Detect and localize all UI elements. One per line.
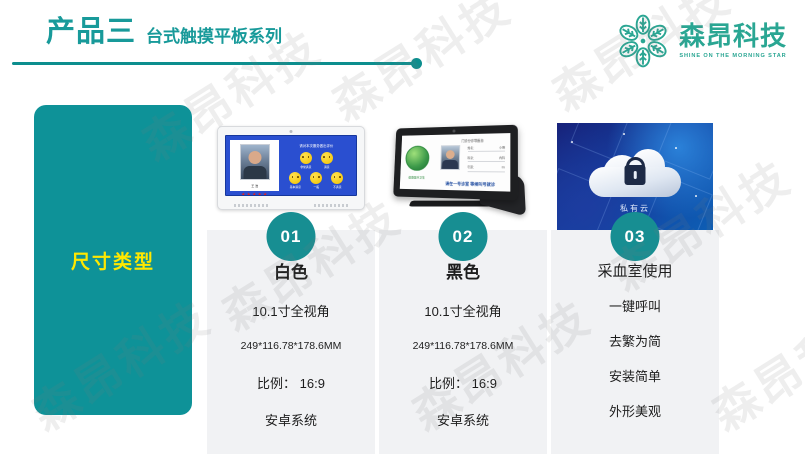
emoji-rating-group: 非常满意 满意 基本满意 一般 不满意	[284, 152, 349, 192]
field-label: 号源：	[467, 165, 476, 169]
header-divider-dot	[411, 58, 422, 69]
column-2-line-4: 安卓系统	[379, 414, 547, 427]
product-column-2: 健康医疗卫生 门诊分诊导医台 姓名： 小明 科室： 内科	[379, 112, 547, 222]
column-2-text: 黑色 10.1寸全视角 249*116.78*178.6MM 比例： 16:9 …	[379, 264, 547, 427]
speaker-vent-left	[234, 204, 268, 207]
health-org-logo-icon	[405, 146, 430, 171]
column-1-heading: 白色	[207, 264, 375, 281]
column-2-line-2: 249*116.78*178.6MM	[379, 341, 547, 352]
logo-tagline: SHINE ON THE MORNING STAR	[679, 53, 786, 59]
screen-profile-card: 王 浩 ★★★★★	[230, 140, 279, 191]
speaker-vent-right	[314, 204, 348, 207]
tablet-camera-dot	[290, 130, 293, 133]
column-3-badge: 03	[611, 212, 660, 261]
emoji-row-top: 非常满意 满意	[284, 152, 349, 169]
emoji-option[interactable]: 不满意	[331, 172, 343, 189]
smiley-icon	[310, 172, 322, 184]
column-2-badge: 02	[439, 212, 488, 261]
column-3-line-1: 一键呼叫	[551, 300, 719, 313]
column-1-media: 王 浩 ★★★★★ 请对本次服务做出评价 非常满意 满意 基本满意	[207, 112, 375, 222]
brand-logo: 森昂科技 SHINE ON THE MORNING STAR	[614, 12, 787, 70]
logo-name: 森昂科技	[679, 23, 787, 50]
size-type-panel: 尺寸类型	[34, 105, 192, 415]
lock-icon	[625, 165, 646, 185]
title-main: 产品三	[46, 18, 136, 47]
screen-title: 门诊分诊导医台	[441, 137, 507, 143]
emoji-label: 不满意	[331, 185, 343, 189]
title-subtitle: 台式触摸平板系列	[146, 28, 282, 47]
emoji-row-bottom: 基本满意 一般 不满意	[284, 172, 349, 189]
field-label: 科室：	[467, 156, 476, 160]
emoji-option[interactable]: 一般	[310, 172, 322, 189]
black-tablet-device: 健康医疗卫生 门诊分诊导医台 姓名： 小明 科室： 内科	[384, 120, 542, 220]
leaf-flower-icon	[614, 12, 672, 70]
field-value: 小明	[499, 145, 505, 149]
column-1-line-2: 249*116.78*178.6MM	[207, 341, 375, 352]
smiley-icon	[331, 172, 343, 184]
field-value: 01	[502, 166, 505, 170]
column-2-heading: 黑色	[379, 264, 547, 281]
size-type-label: 尺寸类型	[71, 247, 155, 274]
smiley-icon	[321, 152, 333, 164]
screen-rating-area: 请对本次服务做出评价 非常满意 满意 基本满意 一般 不满意	[281, 140, 352, 191]
column-2-line-1: 10.1寸全视角	[379, 305, 547, 318]
column-1-badge: 01	[267, 212, 316, 261]
emoji-option[interactable]: 基本满意	[289, 172, 301, 189]
column-3-media: 私有云	[551, 112, 719, 222]
screen-field-row: 号源： 01	[467, 165, 505, 172]
logo-text: 森昂科技 SHINE ON THE MORNING STAR	[679, 23, 787, 58]
emoji-label: 一般	[310, 185, 322, 189]
emoji-option[interactable]: 非常满意	[300, 152, 312, 169]
screen-rating-question: 请对本次服务做出评价	[281, 143, 352, 148]
header-divider-line	[12, 62, 416, 65]
tablet-speaker-vents	[218, 204, 364, 207]
screen-queue-message: 请在一号诊室 等候叫号就诊	[437, 180, 504, 187]
screen-field-row: 姓名： 小明	[468, 145, 506, 152]
column-2-media: 健康医疗卫生 门诊分诊导医台 姓名： 小明 科室： 内科	[379, 112, 547, 222]
field-value: 内科	[499, 155, 505, 159]
screen-field-row: 科室： 内科	[467, 155, 505, 161]
field-label: 姓名：	[468, 146, 476, 150]
column-3-line-3: 安装简单	[551, 370, 719, 383]
white-tablet-screen: 王 浩 ★★★★★ 请对本次服务做出评价 非常满意 满意 基本满意	[225, 135, 357, 196]
product-column-3: 私有云 03 采血室使用 一键呼叫 去繁为简 安装简单 外形美观	[551, 112, 719, 222]
screen-org-name: 健康医疗卫生	[403, 175, 431, 179]
column-1-line-4: 安卓系统	[207, 414, 375, 427]
emoji-label: 基本满意	[289, 185, 301, 189]
column-3-line-4: 外形美观	[551, 405, 719, 418]
smiley-icon	[289, 172, 301, 184]
screen-star-rating: ★★★★★	[230, 192, 279, 196]
emoji-label: 满意	[321, 165, 333, 169]
emoji-option[interactable]: 满意	[321, 152, 333, 169]
column-1-line-3: 比例： 16:9	[207, 377, 375, 390]
column-3-heading: 采血室使用	[551, 264, 719, 279]
column-1-text: 白色 10.1寸全视角 249*116.78*178.6MM 比例： 16:9 …	[207, 264, 375, 427]
cloud-lock-icon	[589, 149, 681, 197]
smiley-icon	[300, 152, 312, 164]
screen-staff-name: 王 浩	[230, 184, 279, 188]
page-title: 产品三 台式触摸平板系列	[46, 18, 282, 47]
black-tablet-body: 健康医疗卫生 门诊分诊导医台 姓名： 小明 科室： 内科	[393, 125, 518, 201]
product-column-1: 王 浩 ★★★★★ 请对本次服务做出评价 非常满意 满意 基本满意	[207, 112, 375, 222]
slide-canvas: 产品三 台式触摸平板系列	[0, 0, 805, 454]
tablet-camera-dot	[453, 130, 455, 132]
column-3-line-2: 去繁为简	[551, 335, 719, 348]
column-1-line-1: 10.1寸全视角	[207, 305, 375, 318]
column-3-text: 采血室使用 一键呼叫 去繁为简 安装简单 外形美观	[551, 264, 719, 418]
emoji-label: 非常满意	[300, 165, 312, 169]
column-2-line-3: 比例： 16:9	[379, 377, 547, 390]
screen-field-list: 姓名： 小明 科室： 内科 号源： 01	[467, 145, 505, 175]
black-tablet-screen: 健康医疗卫生 门诊分诊导医台 姓名： 小明 科室： 内科	[400, 133, 511, 192]
avatar	[440, 145, 460, 170]
white-tablet-device: 王 浩 ★★★★★ 请对本次服务做出评价 非常满意 满意 基本满意	[217, 126, 365, 210]
avatar	[240, 144, 270, 180]
